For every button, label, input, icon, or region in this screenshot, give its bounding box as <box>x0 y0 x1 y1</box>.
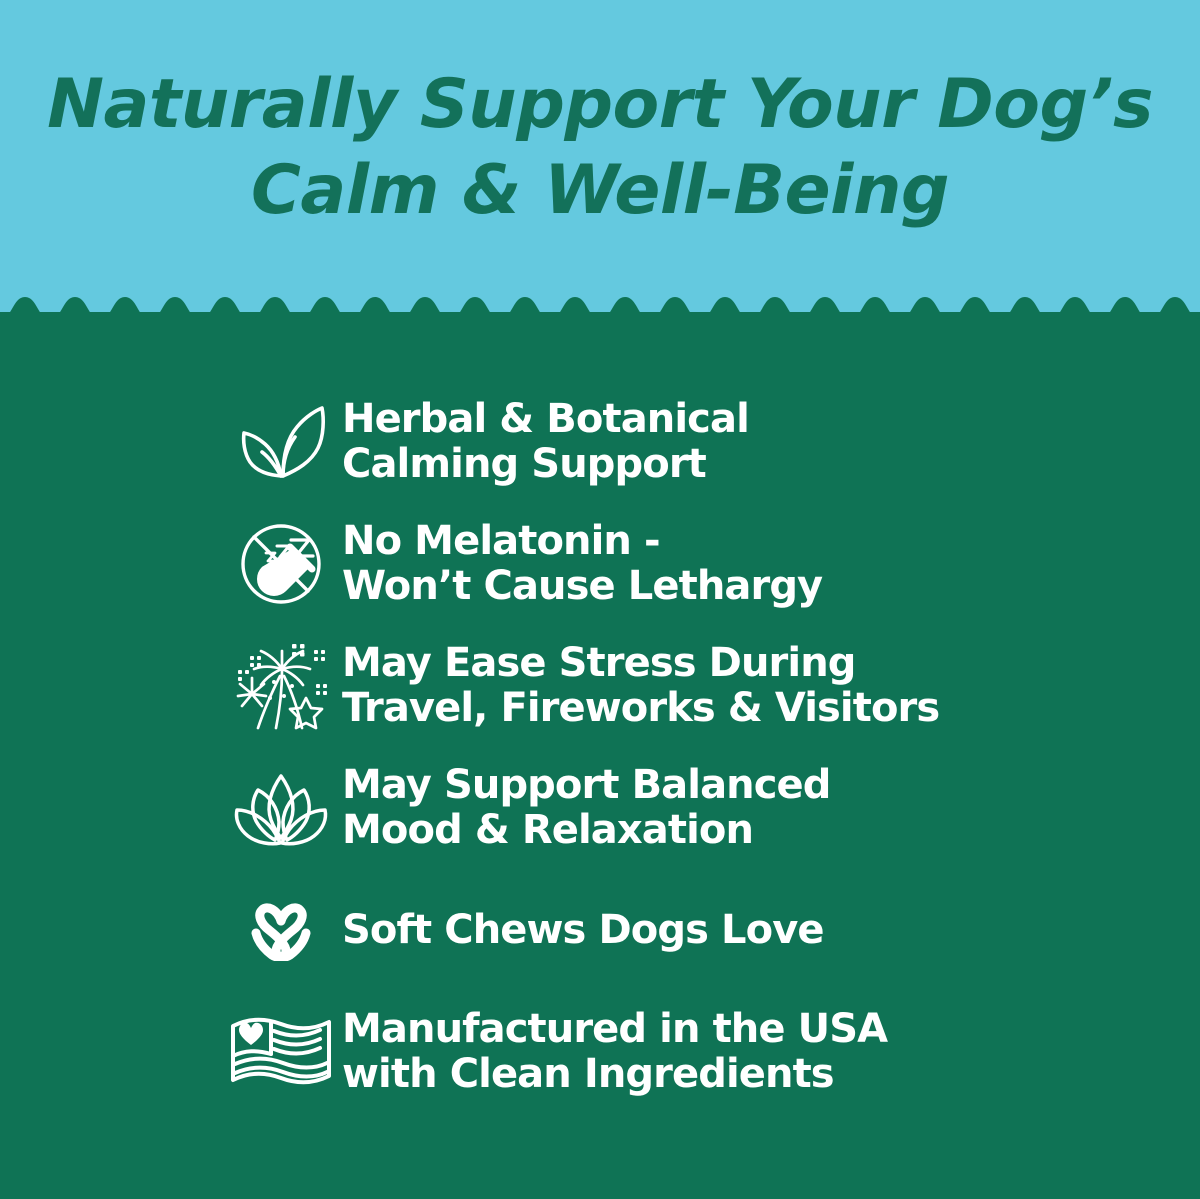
headline-line-2: Calm & Well-Being <box>40 148 1160 234</box>
feature-label: Manufactured in the USA with Clean Ingre… <box>342 1007 887 1097</box>
list-item: May Support Balanced Mood & Relaxation <box>222 756 1200 860</box>
headline-line-1: Naturally Support Your Dog’s <box>40 62 1160 148</box>
lotus-icon <box>222 756 340 860</box>
wave-divider-shape <box>0 295 1200 337</box>
fireworks-icon <box>222 634 340 738</box>
usa-flag-heart-icon <box>222 1000 340 1104</box>
list-item: May Ease Stress During Travel, Fireworks… <box>222 634 1200 738</box>
list-item: Herbal & Botanical Calming Support <box>222 390 1200 494</box>
feature-list: Herbal & Botanical Calming Support <box>0 390 1200 1104</box>
feature-label: May Support Balanced Mood & Relaxation <box>342 763 831 853</box>
feature-label: Soft Chews Dogs Love <box>342 908 824 953</box>
heart-chew-icon <box>222 878 340 982</box>
feature-label: Herbal & Botanical Calming Support <box>342 397 749 487</box>
no-melatonin-icon <box>222 512 340 616</box>
header-band: Naturally Support Your Dog’s Calm & Well… <box>0 0 1200 312</box>
list-item: Soft Chews Dogs Love <box>222 878 1200 982</box>
list-item: No Melatonin - Won’t Cause Lethargy <box>222 512 1200 616</box>
feature-label: No Melatonin - Won’t Cause Lethargy <box>342 519 822 609</box>
wave-divider <box>0 295 1200 337</box>
leaves-icon <box>222 390 340 494</box>
feature-label: May Ease Stress During Travel, Fireworks… <box>342 641 939 731</box>
page-title: Naturally Support Your Dog’s Calm & Well… <box>0 62 1200 233</box>
calming-supplement-benefits-infographic: Naturally Support Your Dog’s Calm & Well… <box>0 0 1200 1199</box>
list-item: Manufactured in the USA with Clean Ingre… <box>222 1000 1200 1104</box>
